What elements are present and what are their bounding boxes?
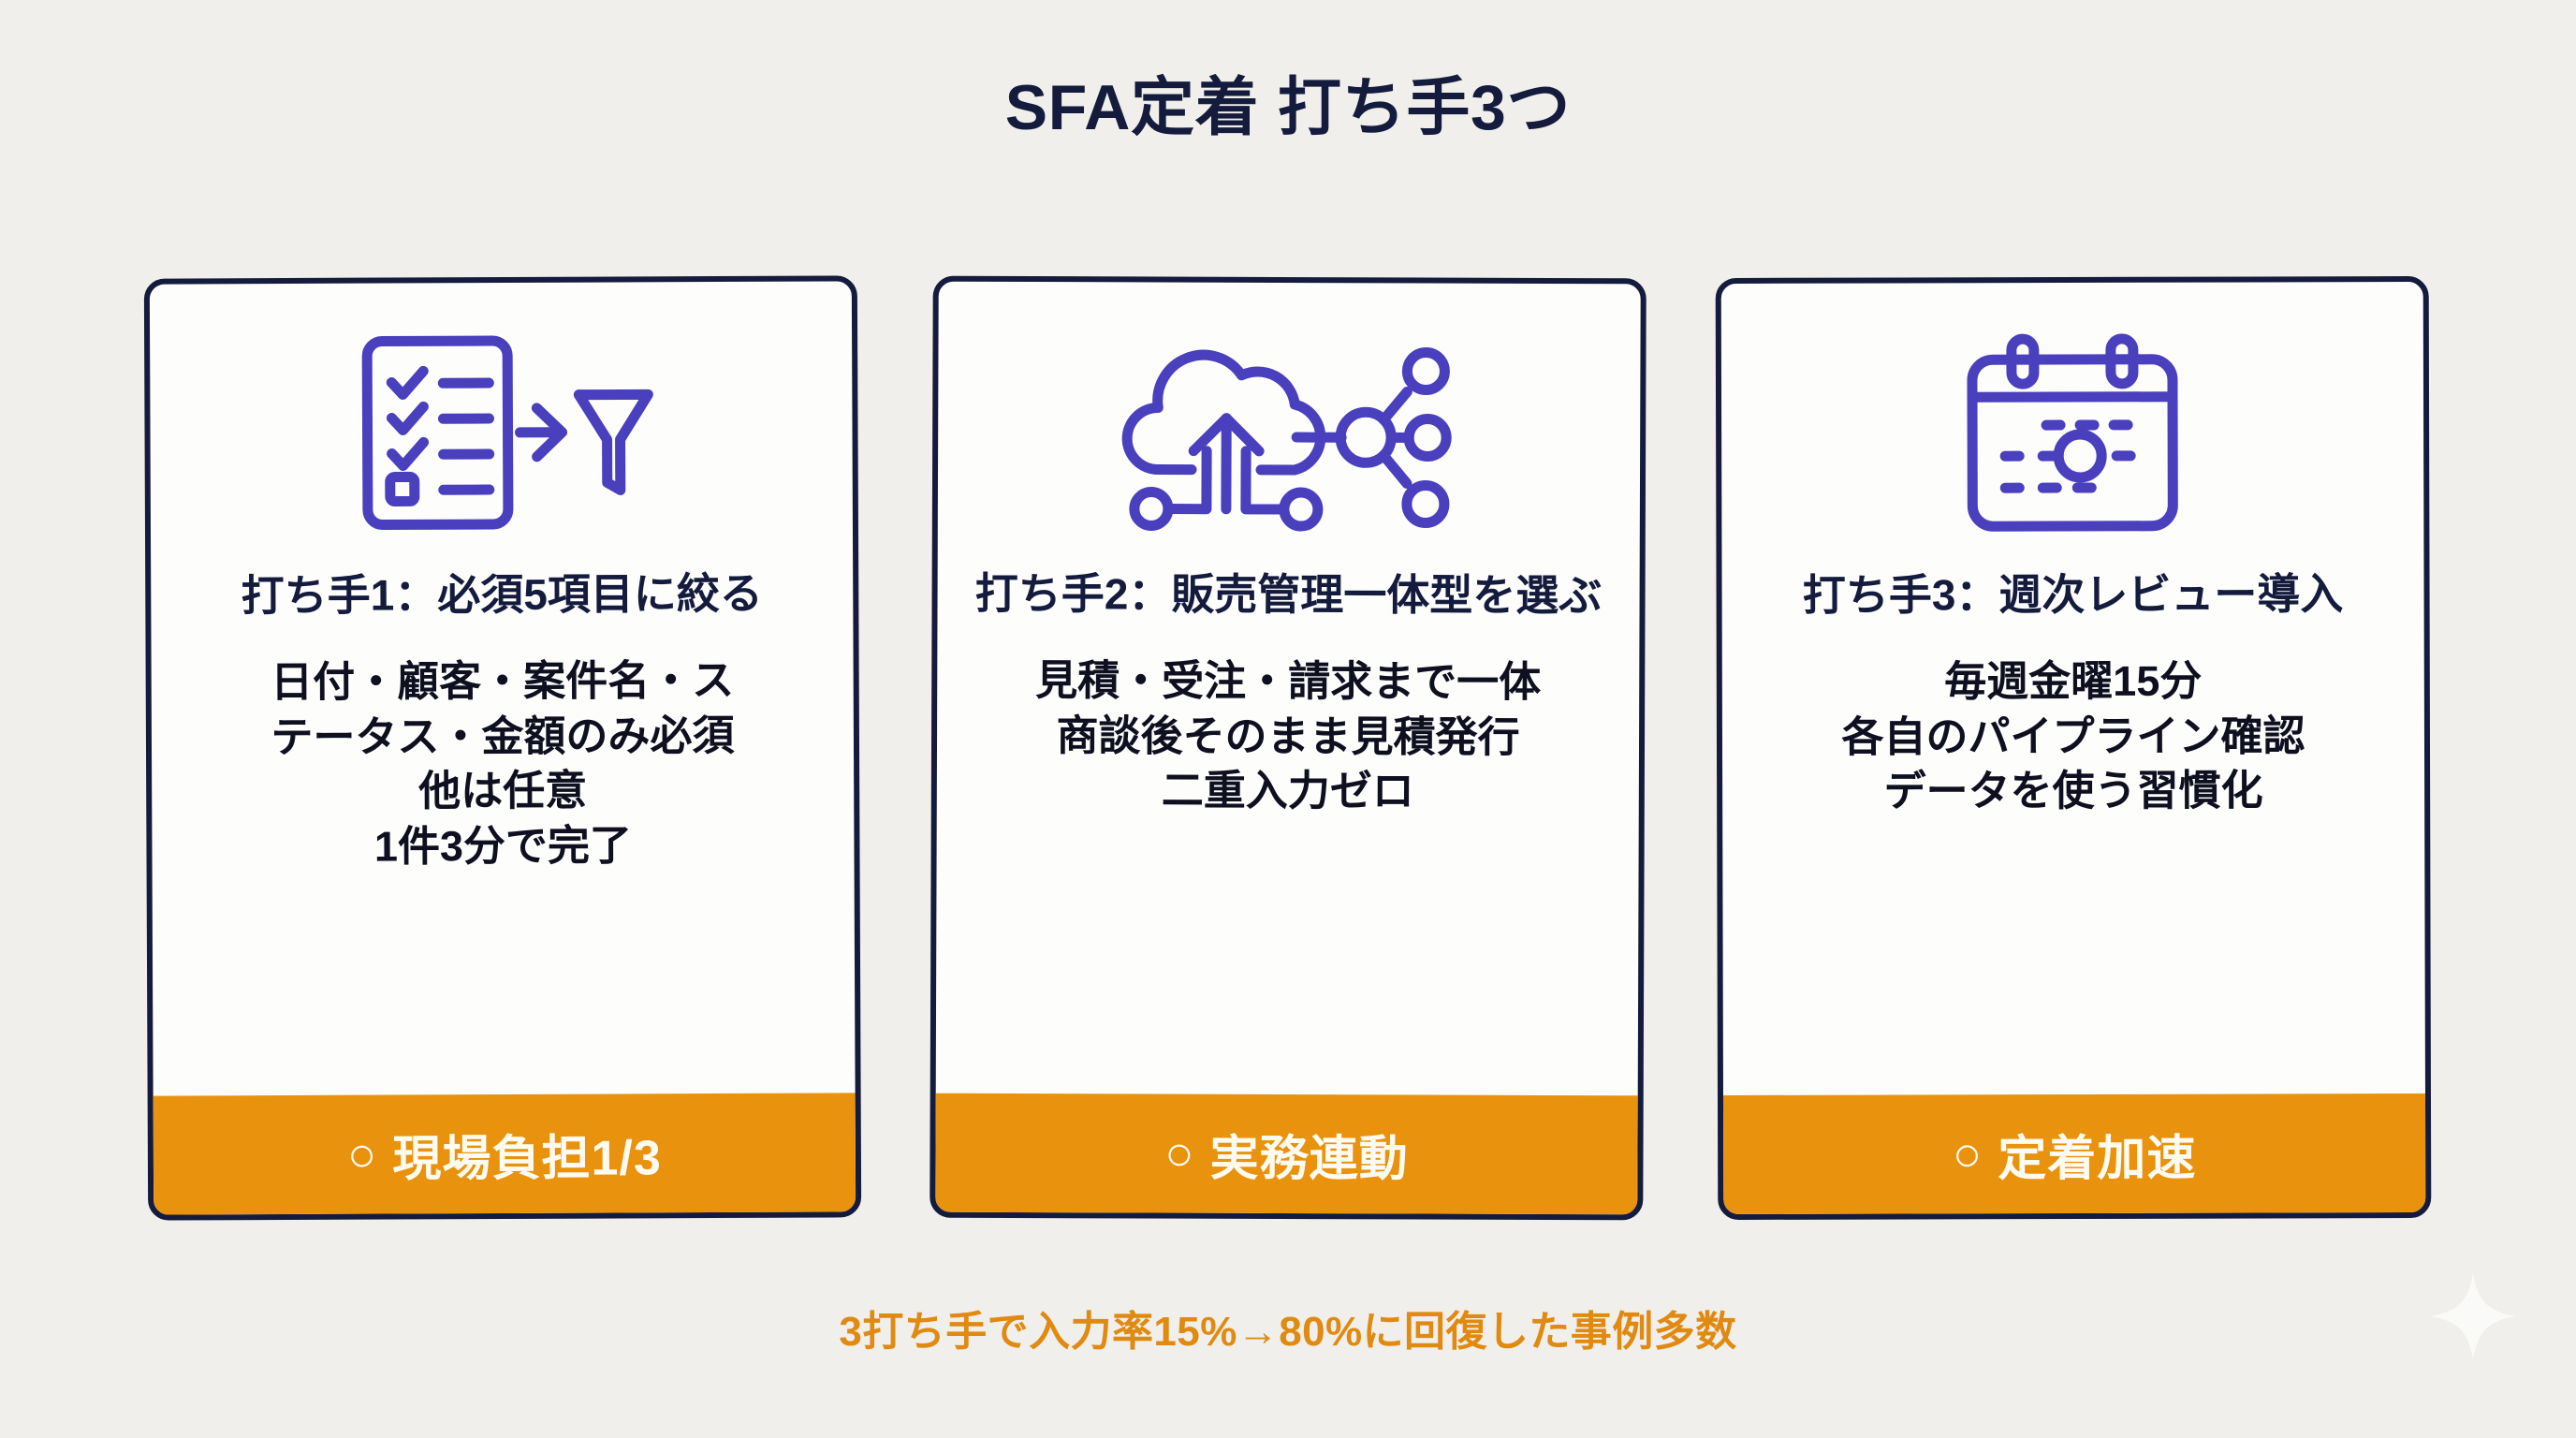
body-line: 他は任意 — [271, 763, 735, 820]
body-line: 1件3分で完了 — [271, 818, 735, 875]
body-line: データを使う習慣化 — [1842, 764, 2305, 820]
body-line: テータス・金額のみ必須 — [271, 709, 734, 766]
circle-mark-icon: ○ — [1953, 1126, 1983, 1182]
card-band-outcome: ○ 定着加速 — [1723, 1093, 2425, 1214]
page-title: SFA定着 打ち手3つ — [0, 73, 2576, 143]
circle-mark-icon: ○ — [1164, 1125, 1195, 1181]
card-tactic-2: 打ち手2：販売管理一体型を選ぶ 見積・受注・請求まで一体 商談後そのまま見積発行… — [929, 276, 1647, 1221]
card-heading: 打ち手3：週次レビュー導入 — [1790, 568, 2357, 622]
body-line: 二重入力ゼロ — [1035, 763, 1541, 819]
card-tactic-1: 打ち手1：必須5項目に絞る 日付・顧客・案件名・ス テータス・金額のみ必須 他は… — [144, 275, 861, 1220]
cards-row: 打ち手1：必須5項目に絞る 日付・顧客・案件名・ス テータス・金額のみ必須 他は… — [146, 277, 2430, 1223]
card-band-outcome: ○ 現場負担1/3 — [154, 1093, 856, 1214]
footer-note: 3打ち手で入力率15%→80%に回復した事例多数 — [0, 1298, 2576, 1357]
checklist-funnel-icon — [150, 281, 853, 565]
body-line: 毎週金曜15分 — [1841, 654, 2305, 711]
card-heading: 打ち手2：販売管理一体型を選ぶ — [962, 568, 1616, 623]
sparkle-icon — [2426, 1269, 2520, 1363]
card-heading: 打ち手1：必須5項目に絞る — [228, 568, 776, 623]
band-label: 実務連動 — [1209, 1119, 1408, 1190]
body-line: 商談後そのまま見積発行 — [1035, 709, 1541, 765]
band-label: 現場負担1/3 — [392, 1118, 662, 1189]
body-line: 日付・顧客・案件名・ス — [271, 653, 734, 711]
cloud-network-icon — [938, 282, 1641, 565]
body-line: 見積・受注・請求まで一体 — [1035, 653, 1541, 710]
card-tactic-3: 打ち手3：週次レビュー導入 毎週金曜15分 各自のパイプライン確認 データを使う… — [1716, 276, 2432, 1220]
circle-mark-icon: ○ — [347, 1126, 378, 1182]
calendar-icon — [1721, 282, 2424, 565]
band-label: 定着加速 — [1998, 1119, 2196, 1190]
card-band-outcome: ○ 実務連動 — [935, 1093, 1637, 1215]
body-line: 各自のパイプライン確認 — [1841, 709, 2305, 765]
